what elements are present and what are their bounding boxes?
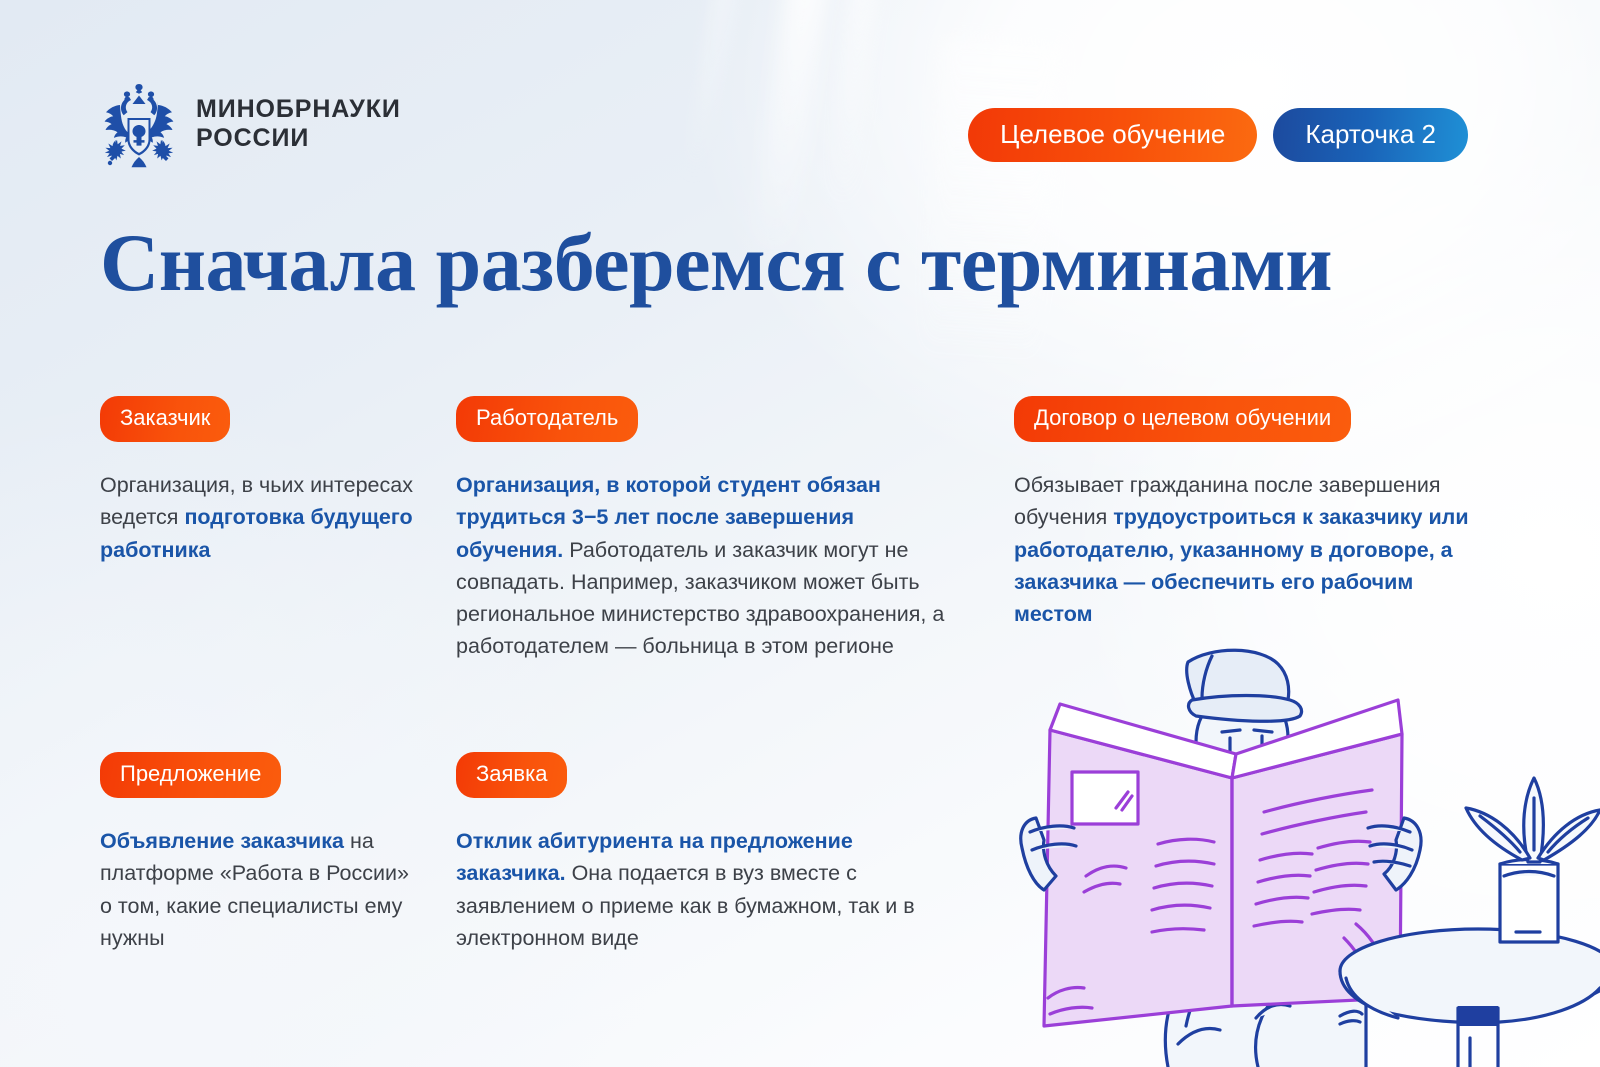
term-tag: Заявка [456, 752, 567, 798]
illustration-man-reading-newspaper [1000, 626, 1600, 1067]
term-body: Организация, в чьих интересах ведется по… [100, 469, 420, 566]
badge-card-number[interactable]: Карточка 2 [1273, 108, 1468, 162]
term-tag: Предложение [100, 752, 281, 798]
ministry-logo-text: МИНОБРНАУКИ РОССИИ [196, 95, 401, 154]
term-tag: Работодатель [456, 396, 638, 442]
logo-line-1: МИНОБРНАУКИ [196, 95, 401, 123]
header-badges: Целевое обучение Карточка 2 [968, 108, 1468, 162]
term-block-dogovor: Договор о целевом обучении Обязывает гра… [1014, 396, 1494, 630]
ministry-logo: МИНОБРНАУКИ РОССИИ [100, 78, 401, 170]
badge-topic[interactable]: Целевое обучение [968, 108, 1257, 162]
term-block-zayavka: Заявка Отклик абитуриента на предложение… [456, 752, 946, 954]
term-body: Отклик абитуриента на предложение заказч… [456, 825, 946, 954]
term-body: Обязывает гражданина после завершения об… [1014, 469, 1494, 630]
illustration-svg [1000, 626, 1600, 1067]
background-streak [919, 36, 1062, 374]
page-title: Сначала разберемся с терминами [100, 222, 1332, 304]
logo-line-2: РОССИИ [196, 124, 401, 154]
term-tag: Заказчик [100, 396, 230, 442]
background-streak [828, 0, 879, 211]
term-block-zakazchik: Заказчик Организация, в чьих интересах в… [100, 396, 420, 566]
term-text-emphasis: Объявление заказчика [100, 829, 344, 853]
background-streak [683, 0, 735, 180]
term-block-rabotodatel: Работодатель Организация, в которой студ… [456, 396, 946, 663]
term-body: Организация, в которой студент обязан тр… [456, 469, 946, 663]
term-tag: Договор о целевом обучении [1014, 396, 1351, 442]
infographic-canvas: МИНОБРНАУКИ РОССИИ Целевое обучение Карт… [0, 0, 1600, 1067]
round-table [1340, 929, 1600, 1067]
term-block-predlozhenie: Предложение Объявление заказчика на плат… [100, 752, 420, 954]
potted-plant [1466, 778, 1600, 942]
term-body: Объявление заказчика на платформе «Работ… [100, 825, 420, 954]
russian-coat-of-arms-emblem [100, 78, 178, 170]
